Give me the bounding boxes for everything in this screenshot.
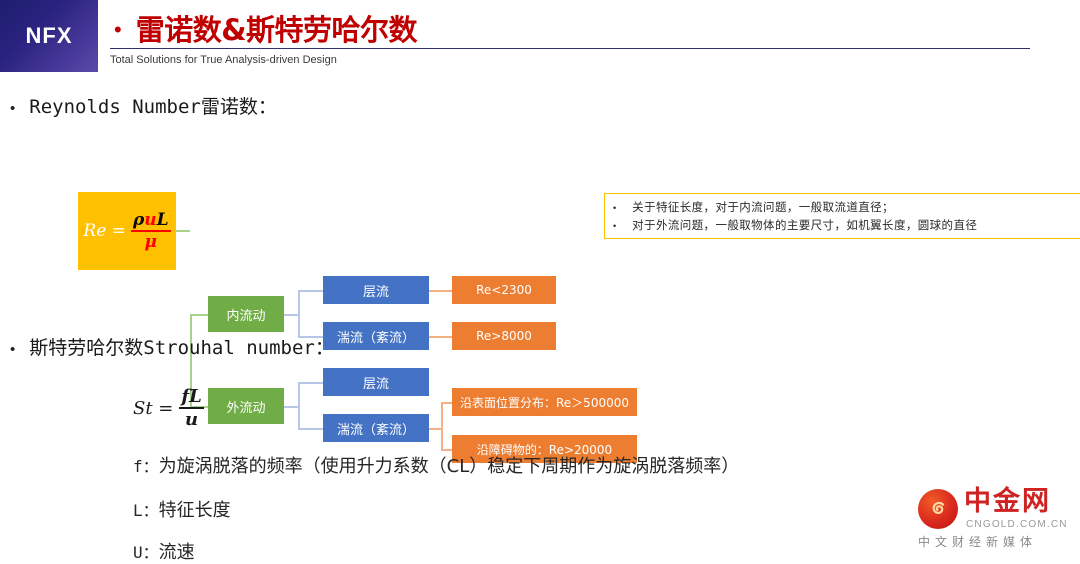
- node-laminar-inner-label: 层流: [363, 281, 389, 300]
- connector-tur2-spine: [441, 402, 443, 449]
- title-divider: [110, 48, 1030, 49]
- connector-tur2-bottom: [441, 449, 452, 451]
- strouhal-numerator: fL: [179, 388, 203, 407]
- definition-l-text: 特征长度: [159, 500, 231, 521]
- bullet-reynolds-label: Reynolds Number雷诺数：: [29, 92, 277, 119]
- reynolds-formula: Re = ρuL μ: [83, 212, 170, 251]
- velocity-symbol: u: [185, 409, 198, 429]
- reynolds-formula-lhs: Re =: [83, 221, 126, 241]
- node-turbulent-inner-label: 湍流（紊流）: [337, 327, 415, 346]
- nfx-logo-text: NFX: [26, 23, 73, 49]
- cngold-brand-name: 中金网: [964, 487, 1051, 517]
- strouhal-formula: St = fL u: [133, 388, 204, 429]
- node-turbulent-outer[interactable]: 湍流（紊流）: [323, 414, 429, 442]
- u-symbol: u: [144, 210, 156, 230]
- cngold-swirl-icon: [927, 498, 949, 520]
- definition-f: f：为旋涡脱落的频率（使用升力系数（CL）稳定下周期作为旋涡脱落频率）: [133, 452, 739, 478]
- node-re-lt-2300[interactable]: Re<2300: [452, 276, 556, 304]
- note-bullet-icon: •: [613, 222, 616, 231]
- note-bullet-icon: •: [613, 204, 616, 213]
- title-row: • 雷诺数&斯特劳哈尔数: [110, 4, 1080, 46]
- connector-inner-spine: [298, 290, 300, 336]
- rho-symbol: ρ: [133, 210, 144, 230]
- definition-l: L：特征长度: [133, 496, 231, 522]
- connector-outer-spine: [298, 382, 300, 428]
- connector-tur2-top: [441, 402, 452, 404]
- note-line: • 对于外流问题，一般取物体的主要尺寸，如机翼长度，圆球的直径: [613, 217, 1080, 233]
- reynolds-formula-box: Re = ρuL μ: [78, 192, 176, 270]
- characteristic-length-note: • 关于特征长度，对于内流问题，一般取流道直径； • 对于外流问题，一般取物体的…: [604, 193, 1080, 239]
- connector-outer-top: [298, 382, 323, 384]
- connector-formula-stem: [176, 230, 190, 232]
- node-surface-distribution-label: 沿表面位置分布：Re＞500000: [460, 394, 629, 411]
- connector-inner-stem: [284, 314, 298, 316]
- connector-outer-stem: [284, 406, 298, 408]
- slide-header: NFX • 雷诺数&斯特劳哈尔数 Total Solutions for Tru…: [0, 0, 1080, 72]
- bullet-dot-icon: •: [10, 101, 15, 116]
- cngold-watermark: 中金网 CNGOLD.COM.CN 中文财经新媒体: [918, 487, 1080, 553]
- connector-tur2-stem: [429, 428, 441, 430]
- page-title: 雷诺数&斯特劳哈尔数: [136, 14, 417, 46]
- reynolds-formula-fraction: ρuL μ: [131, 212, 171, 251]
- node-outer-flow-label: 外流动: [226, 397, 265, 416]
- mu-symbol: μ: [145, 232, 157, 251]
- nfx-logo: NFX: [0, 0, 98, 72]
- frequency-symbol: f: [181, 386, 189, 407]
- cngold-tagline: 中文财经新媒体: [918, 533, 1037, 550]
- reynolds-tree-diagram: Re = ρuL μ 内流动 外流动 层流 湍流（紊流） 层流 湍流（紊流） R…: [0, 130, 680, 345]
- slide-subtitle: Total Solutions for True Analysis-driven…: [110, 54, 337, 66]
- node-inner-flow[interactable]: 内流动: [208, 296, 284, 332]
- node-turbulent-inner[interactable]: 湍流（紊流）: [323, 322, 429, 350]
- definition-l-key: L：: [133, 501, 159, 520]
- bullet-strouhal: • 斯特劳哈尔数Strouhal number：: [10, 333, 334, 360]
- length-symbol: L: [189, 386, 202, 407]
- cngold-domain: CNGOLD.COM.CN: [966, 519, 1068, 530]
- definition-u-key: U：: [133, 543, 159, 562]
- node-laminar-inner[interactable]: 层流: [323, 276, 429, 304]
- bullet-dot-icon: •: [10, 342, 15, 357]
- definition-u: U：流速: [133, 538, 195, 564]
- title-block: • 雷诺数&斯特劳哈尔数 Total Solutions for True An…: [110, 4, 1080, 72]
- node-re-gt-8000[interactable]: Re>8000: [452, 322, 556, 350]
- note-line-text: 关于特征长度，对于内流问题，一般取流道直径；: [632, 199, 894, 215]
- title-bullet-icon: •: [114, 19, 122, 41]
- reynolds-formula-numerator: ρuL: [131, 212, 171, 230]
- node-re-lt-2300-label: Re<2300: [476, 283, 532, 297]
- note-line: • 关于特征长度，对于内流问题，一般取流道直径；: [613, 199, 1080, 215]
- strouhal-formula-lhs: St =: [133, 398, 173, 419]
- definition-u-text: 流速: [159, 542, 195, 563]
- connector-lam1-orange: [429, 290, 452, 292]
- connector-inner-top: [298, 290, 323, 292]
- node-laminar-outer[interactable]: 层流: [323, 368, 429, 396]
- node-turbulent-outer-label: 湍流（紊流）: [337, 419, 415, 438]
- node-outer-flow[interactable]: 外流动: [208, 388, 284, 424]
- bullet-strouhal-label: 斯特劳哈尔数Strouhal number：: [29, 333, 334, 360]
- node-surface-distribution[interactable]: 沿表面位置分布：Re＞500000: [452, 388, 637, 416]
- connector-green-top: [190, 314, 208, 316]
- connector-outer-bottom: [298, 428, 323, 430]
- length-symbol: L: [157, 210, 169, 230]
- note-line-text: 对于外流问题，一般取物体的主要尺寸，如机翼长度，圆球的直径: [632, 217, 977, 233]
- node-inner-flow-label: 内流动: [226, 305, 265, 324]
- definition-f-key: f：: [133, 457, 159, 476]
- connector-tur1-orange: [429, 336, 452, 338]
- node-re-gt-8000-label: Re>8000: [476, 329, 532, 343]
- bullet-reynolds: • Reynolds Number雷诺数：: [10, 92, 277, 119]
- strouhal-formula-fraction: fL u: [179, 388, 203, 429]
- definition-f-text: 为旋涡脱落的频率（使用升力系数（CL）稳定下周期作为旋涡脱落频率）: [159, 456, 740, 477]
- node-laminar-outer-label: 层流: [363, 373, 389, 392]
